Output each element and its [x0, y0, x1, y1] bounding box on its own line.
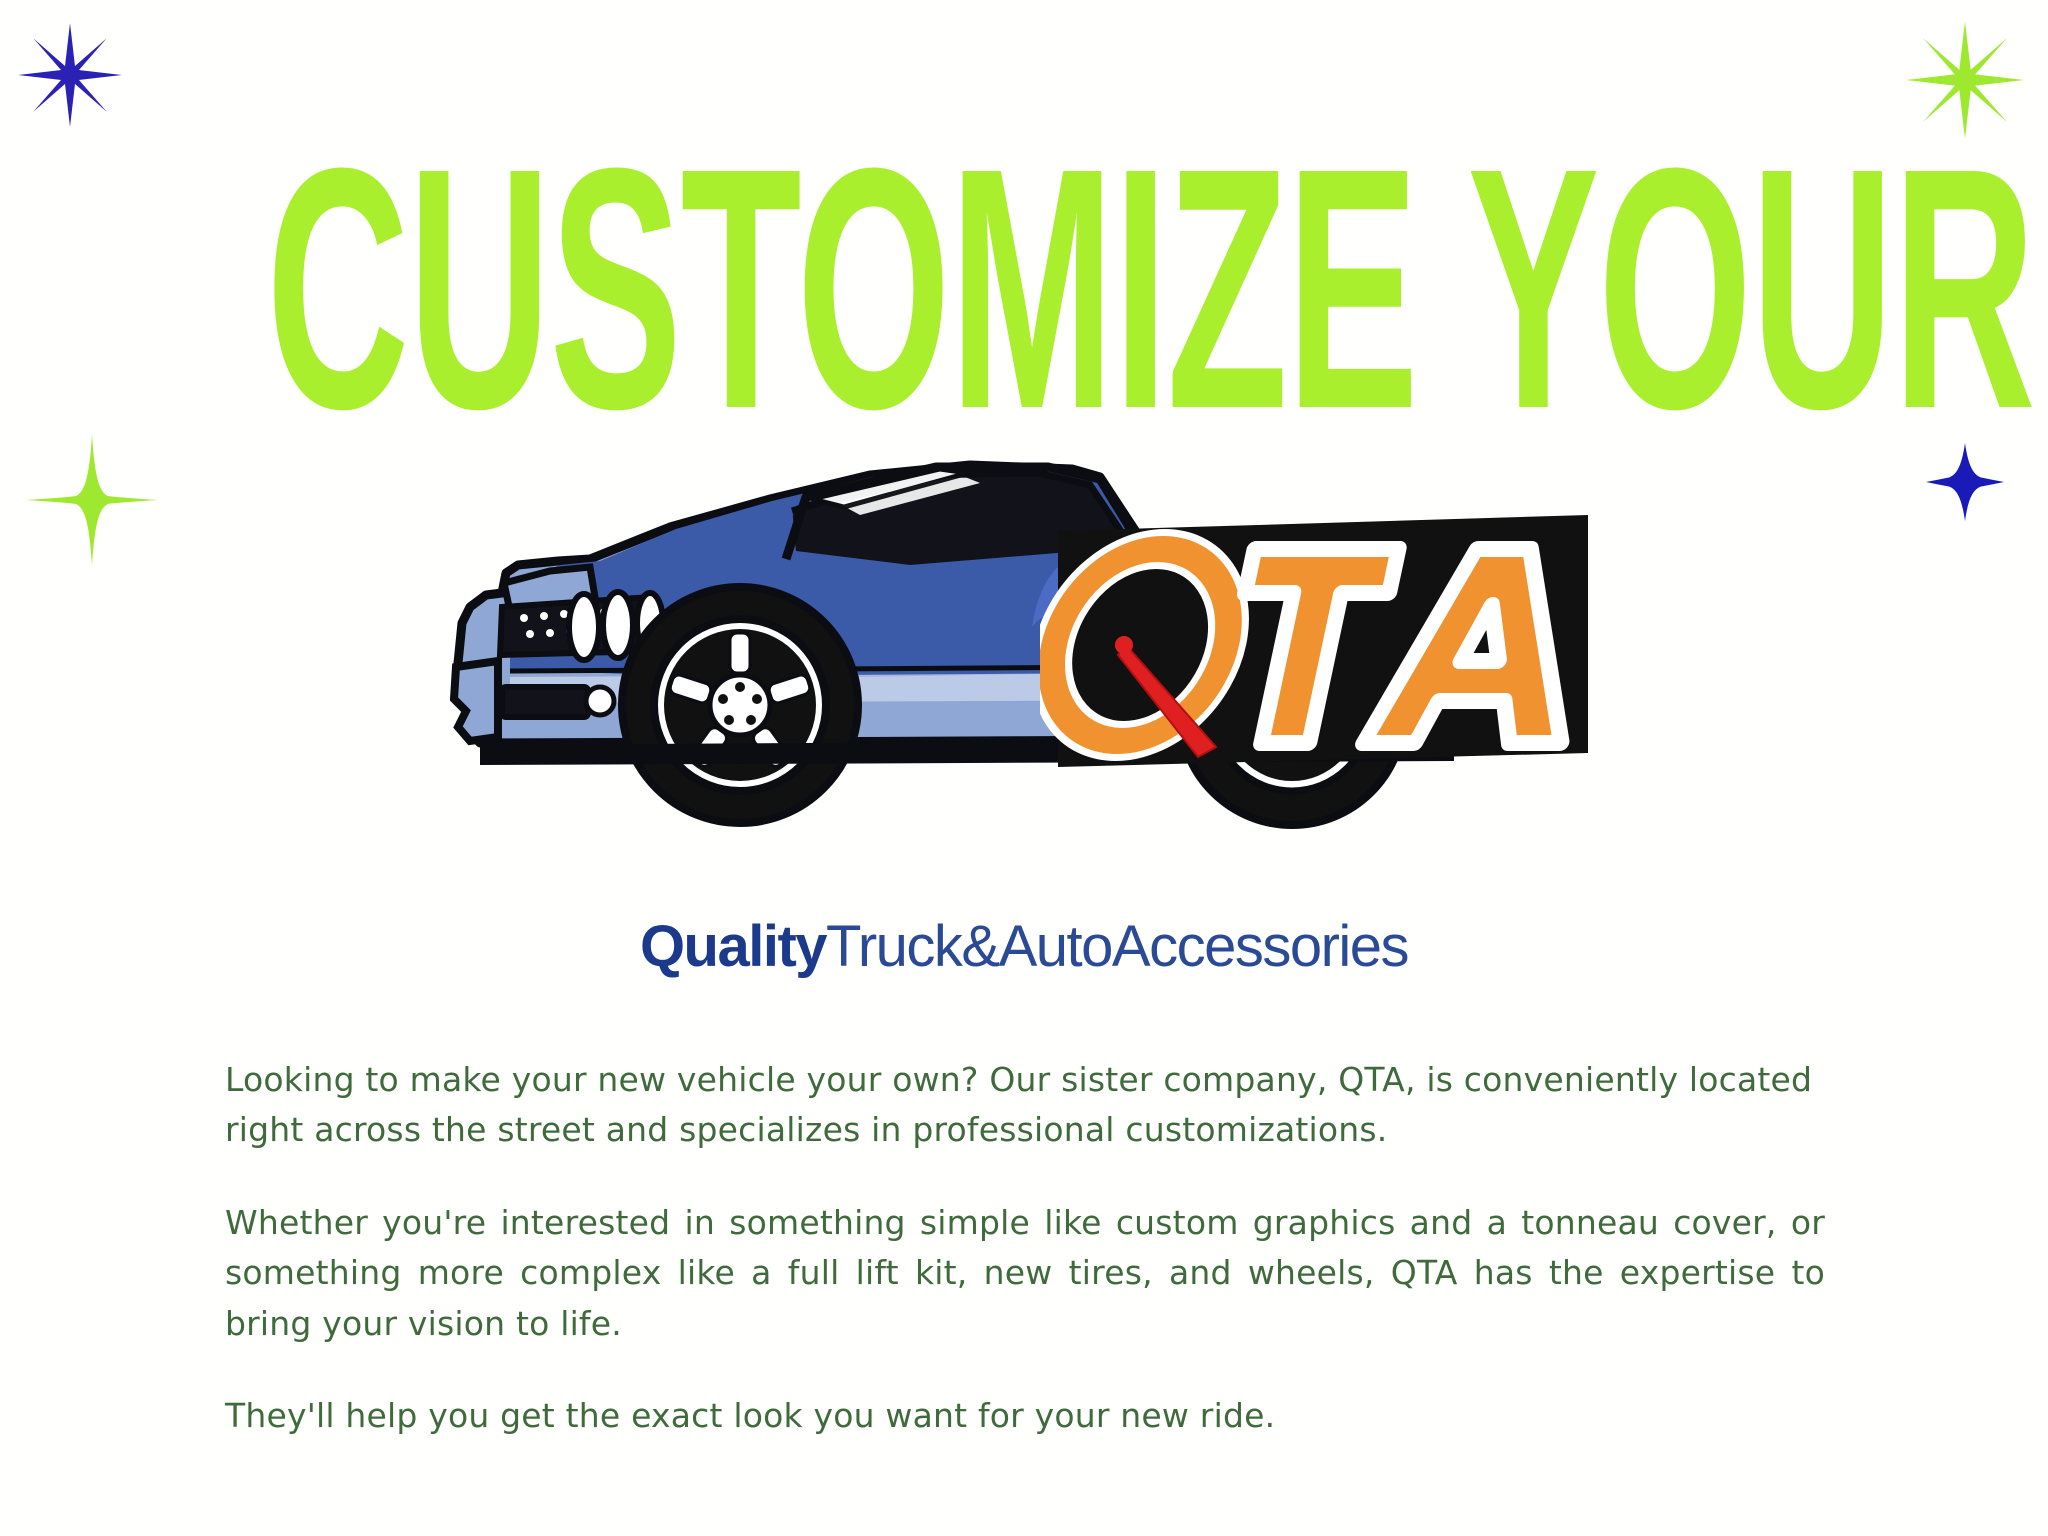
qta-wordmark — [1040, 495, 1600, 785]
poster-canvas: CUSTOMIZE YOUR RIDE — [0, 0, 2048, 1536]
tagline-bold: Quality — [640, 914, 826, 979]
paragraph-services: Whether you're interested in something s… — [225, 1198, 1825, 1349]
sparkle-8point-blue-top-left-icon — [16, 21, 124, 129]
page-title: CUSTOMIZE YOUR RIDE — [266, 128, 1782, 450]
logo-tagline: QualityTruck&AutoAccessories — [0, 918, 2048, 976]
paragraph-intro: Looking to make your new vehicle your ow… — [225, 1055, 1825, 1156]
qta-truck-logo — [0, 455, 2048, 925]
paragraph-closing: They'll help you get the exact look you … — [225, 1391, 1825, 1441]
body-copy: Looking to make your new vehicle your ow… — [225, 1055, 1825, 1442]
tagline-regular: Truck&AutoAccessories — [826, 914, 1408, 979]
